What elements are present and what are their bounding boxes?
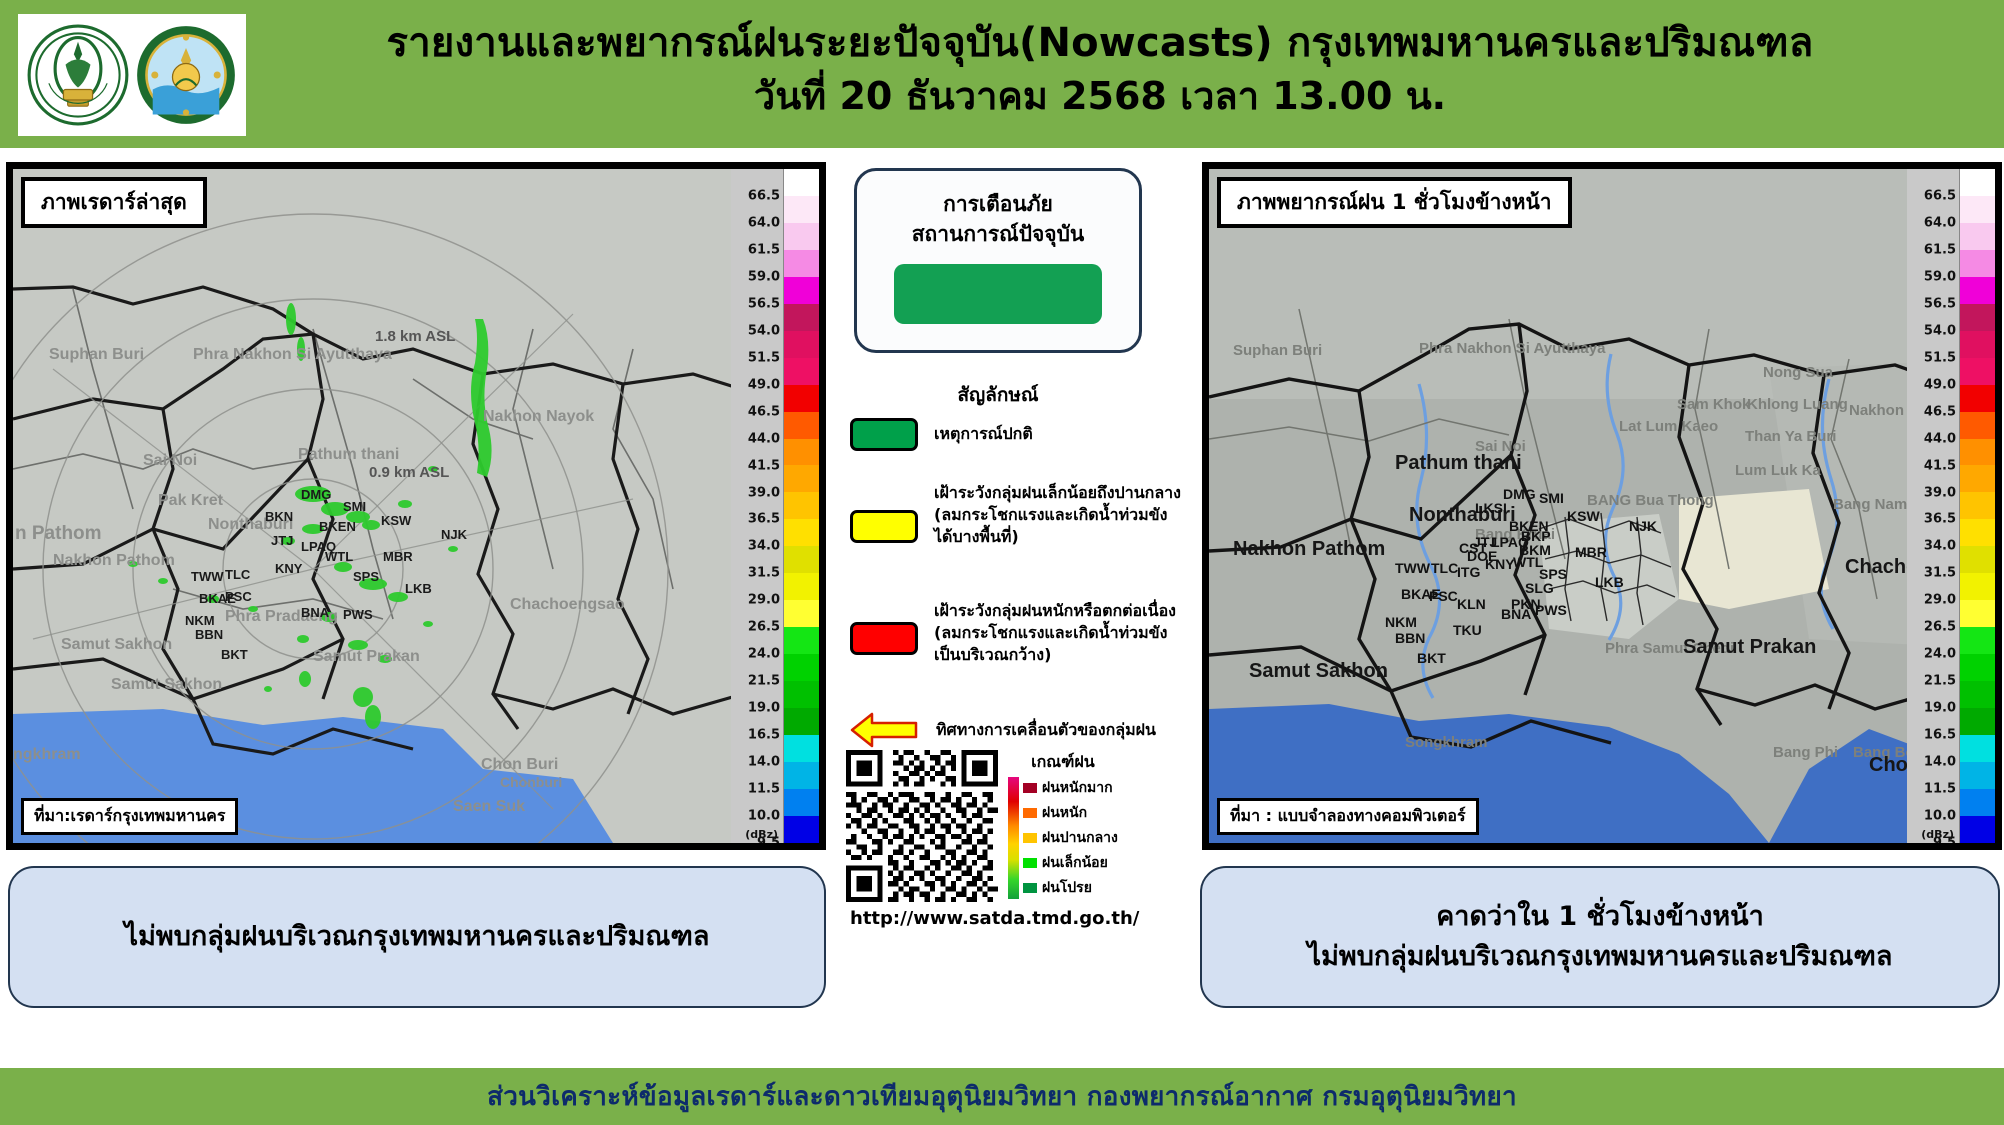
colorbar-tick-61.5: 61.5	[748, 242, 780, 257]
rain-intensity-gradient	[1008, 777, 1019, 899]
colorbar-swatch-3	[784, 250, 819, 277]
summary-right-line-1: คาดว่าใน 1 ชั่วโมงข้างหน้า	[1436, 897, 1764, 938]
svg-text:TLC: TLC	[1431, 560, 1458, 576]
colorbar-swatch-23	[1960, 789, 1995, 816]
svg-text:KNY: KNY	[275, 561, 303, 576]
colorbar-tick-31.5: 31.5	[748, 566, 780, 581]
colorbar-swatch-20	[1960, 708, 1995, 735]
legend-label-movement: ทิศทางการเคลื่อนตัวของกลุ่มฝน	[936, 719, 1156, 741]
svg-text:PWS: PWS	[343, 607, 373, 622]
svg-text:DMG: DMG	[1503, 486, 1536, 502]
rain-criteria-swatch-4	[1023, 883, 1037, 893]
svg-text:1.8 km ASL: 1.8 km ASL	[375, 328, 455, 345]
svg-text:Samut Sakhon: Samut Sakhon	[111, 676, 222, 693]
svg-text:BANG Bua Thong: BANG Bua Thong	[1587, 492, 1714, 509]
svg-text:BNA: BNA	[301, 605, 330, 620]
colorbar-swatch-6	[1960, 331, 1995, 358]
colorbar-tick-31.5: 31.5	[1924, 566, 1956, 581]
dbz-colorbar-swatches-left	[783, 169, 819, 843]
logo-container	[18, 14, 246, 136]
colorbar-tick-39.0: 39.0	[1924, 485, 1956, 500]
svg-text:NKM: NKM	[185, 613, 215, 628]
rain-criteria-swatch-2	[1023, 833, 1037, 843]
website-url[interactable]: http://www.satda.tmd.go.th/	[846, 908, 1194, 929]
colorbar-tick-10.0: 10.0	[748, 809, 780, 824]
colorbar-swatch-6	[784, 331, 819, 358]
title-line-1: รายงานและพยากรณ์ฝนระยะปัจจุบัน(Nowcasts)…	[250, 18, 1950, 68]
svg-text:LKB: LKB	[1595, 574, 1624, 590]
svg-text:NKM: NKM	[1385, 614, 1417, 630]
svg-text:BBN: BBN	[1395, 630, 1425, 646]
svg-text:BKT: BKT	[1417, 650, 1446, 666]
colorbar-tick-29.0: 29.0	[748, 593, 780, 608]
svg-text:Saen Suk: Saen Suk	[453, 798, 525, 815]
colorbar-tick-10.0: 10.0	[1924, 809, 1956, 824]
title-line-2: วันที่ 20 ธันวาคม 2568 เวลา 13.00 น.	[250, 72, 1950, 121]
colorbar-swatch-14	[784, 546, 819, 573]
svg-text:Than Ya Buri: Than Ya Buri	[1745, 428, 1836, 445]
colorbar-swatch-22	[1960, 762, 1995, 789]
colorbar-tick-24.0: 24.0	[1924, 647, 1956, 662]
colorbar-swatch-7	[1960, 358, 1995, 385]
colorbar-tick-54.0: 54.0	[1924, 323, 1956, 338]
svg-text:BKT: BKT	[221, 647, 248, 662]
colorbar-swatch-9	[1960, 412, 1995, 439]
rain-criteria-item-0: ฝนหนักมาก	[1023, 777, 1118, 799]
legend-column: การเตือนภัย สถานการณ์ปัจจุบัน สัญลักษณ์ …	[836, 162, 1194, 1062]
colorbar-swatch-16	[1960, 600, 1995, 627]
colorbar-tick-46.5: 46.5	[1924, 404, 1956, 419]
colorbar-swatch-21	[1960, 735, 1995, 762]
svg-text:Samut Sakhon: Samut Sakhon	[61, 636, 172, 653]
right-panel-tag: ภาพพยากรณ์ฝน 1 ชั่วโมงข้างหน้า	[1217, 177, 1572, 228]
svg-text:BKEN: BKEN	[319, 519, 356, 534]
svg-text:SMI: SMI	[1539, 490, 1564, 506]
colorbar-swatch-0	[784, 169, 819, 196]
svg-text:SMI: SMI	[343, 499, 366, 514]
svg-text:Chonburi: Chonburi	[500, 774, 562, 790]
svg-text:Bang Phi: Bang Phi	[1773, 744, 1838, 761]
colorbar-swatch-1	[1960, 196, 1995, 223]
rain-criteria-item-1: ฝนหนัก	[1023, 802, 1118, 824]
svg-text:LKSI: LKSI	[1475, 500, 1507, 516]
svg-text:SLG: SLG	[1525, 580, 1554, 596]
right-panel-source-tag: ที่มา : แบบจำลองทางคอมพิวเตอร์	[1217, 798, 1479, 835]
svg-text:Suphan Buri: Suphan Buri	[49, 346, 144, 363]
svg-text:BBN: BBN	[195, 627, 223, 642]
colorbar-swatch-23	[784, 789, 819, 816]
colorbar-swatch-8	[1960, 385, 1995, 412]
colorbar-tick-26.5: 26.5	[748, 620, 780, 635]
colorbar-swatch-12	[1960, 492, 1995, 519]
colorbar-swatch-7	[784, 358, 819, 385]
colorbar-tick-56.5: 56.5	[748, 296, 780, 311]
svg-text:TWW: TWW	[1395, 560, 1431, 576]
colorbar-swatch-15	[1960, 573, 1995, 600]
rain-criteria-item-3: ฝนเล็กน้อย	[1023, 852, 1118, 874]
colorbar-tick-49.0: 49.0	[1924, 377, 1956, 392]
svg-text:Samut Sakhon: Samut Sakhon	[1249, 660, 1388, 682]
colorbar-unit: (dBz)	[1921, 828, 1954, 841]
svg-text:Suphan Buri: Suphan Buri	[1233, 342, 1322, 359]
rain-criteria-label-0: ฝนหนักมาก	[1042, 777, 1113, 799]
colorbar-tick-34.0: 34.0	[748, 539, 780, 554]
rain-criteria-legend: เกณฑ์ฝน ฝนหนักมากฝนหนักฝนปานกลางฝนเล็กน้…	[1008, 750, 1118, 899]
colorbar-tick-19.0: 19.0	[748, 701, 780, 716]
colorbar-tick-21.5: 21.5	[748, 674, 780, 689]
forecast-1hour-panel[interactable]: Suphan Buri Phra Nakhon Si Ayutthaya Non…	[1202, 162, 2002, 850]
colorbar-tick-16.5: 16.5	[1924, 728, 1956, 743]
nowcast-report-page: รายงานและพยากรณ์ฝนระยะปัจจุบัน(Nowcasts)…	[0, 0, 2004, 1125]
colorbar-tick-14.0: 14.0	[1924, 755, 1956, 770]
rain-criteria-label-1: ฝนหนัก	[1042, 802, 1087, 824]
colorbar-tick-66.5: 66.5	[748, 188, 780, 203]
dbz-colorbar-labels-left: 66.564.061.559.056.554.051.549.046.544.0…	[731, 169, 783, 843]
rain-criteria-label-2: ฝนปานกลาง	[1042, 827, 1118, 849]
colorbar-swatch-3	[1960, 250, 1995, 277]
summary-right-box: คาดว่าใน 1 ชั่วโมงข้างหน้า ไม่พบกลุ่มฝนบ…	[1200, 866, 2000, 1008]
svg-text:BKAE: BKAE	[199, 591, 236, 606]
colorbar-swatch-1	[784, 196, 819, 223]
left-panel-tag: ภาพเรดาร์ล่าสุด	[21, 177, 207, 228]
qr-and-rain-criteria: เกณฑ์ฝน ฝนหนักมากฝนหนักฝนปานกลางฝนเล็กน้…	[846, 750, 1194, 929]
rain-criteria-swatch-1	[1023, 808, 1037, 818]
colorbar-swatch-22	[784, 762, 819, 789]
alert-status-card: การเตือนภัย สถานการณ์ปัจจุบัน	[854, 168, 1142, 353]
colorbar-tick-24.0: 24.0	[748, 647, 780, 662]
colorbar-swatch-20	[784, 708, 819, 735]
svg-text:LKB: LKB	[405, 581, 432, 596]
dbz-colorbar-left: 66.564.061.559.056.554.051.549.046.544.0…	[731, 169, 819, 843]
colorbar-tick-11.5: 11.5	[748, 782, 780, 797]
svg-text:ITG: ITG	[1457, 564, 1480, 580]
dbz-colorbar-swatches-right	[1959, 169, 1995, 843]
legend-item-watch-light: เฝ้าระวังกลุ่มฝนเล็กน้อยถึงปานกลาง(ลมกระ…	[850, 482, 1194, 548]
svg-text:PKN: PKN	[1511, 596, 1541, 612]
alert-status-indicator	[894, 264, 1102, 324]
svg-text:MBR: MBR	[383, 549, 413, 564]
svg-text:MBR: MBR	[1575, 544, 1607, 560]
forecast-map-canvas[interactable]: Suphan Buri Phra Nakhon Si Ayutthaya Non…	[1209, 169, 1995, 843]
colorbar-tick-61.5: 61.5	[1924, 242, 1956, 257]
colorbar-tick-66.5: 66.5	[1924, 188, 1956, 203]
thai-meteorological-department-emblem-icon	[134, 23, 238, 127]
colorbar-tick-34.0: 34.0	[1924, 539, 1956, 554]
svg-text:Samut Prakan: Samut Prakan	[1683, 636, 1816, 658]
content-area: Suphan Buri Phra Nakhon Si Ayutthaya Nak…	[0, 148, 2004, 1068]
colorbar-swatch-24	[1960, 816, 1995, 843]
left-panel-source-tag: ที่มา:เรดาร์กรุงเทพมหานคร	[21, 798, 238, 835]
legend-item-normal: เหตุการณ์ปกติ	[850, 418, 1194, 451]
radar-map-canvas[interactable]: Suphan Buri Phra Nakhon Si Ayutthaya Nak…	[13, 169, 819, 843]
colorbar-tick-64.0: 64.0	[1924, 215, 1956, 230]
svg-text:Lat Lum Kaeo: Lat Lum Kaeo	[1619, 418, 1718, 435]
colorbar-tick-19.0: 19.0	[1924, 701, 1956, 716]
legend-item-movement: ทิศทางการเคลื่อนตัวของกลุ่มฝน	[850, 710, 1194, 750]
colorbar-tick-21.5: 21.5	[1924, 674, 1956, 689]
colorbar-swatch-24	[784, 816, 819, 843]
colorbar-tick-11.5: 11.5	[1924, 782, 1956, 797]
svg-text:Nakhon Pathom: Nakhon Pathom	[53, 552, 175, 569]
royal-rainmaking-emblem-icon	[26, 23, 130, 127]
colorbar-tick-36.5: 36.5	[748, 512, 780, 527]
qr-code-icon[interactable]	[846, 750, 998, 902]
colorbar-swatch-13	[784, 519, 819, 546]
svg-text:Chachoengsao: Chachoengsao	[510, 596, 625, 613]
svg-text:Nong Sua: Nong Sua	[1763, 364, 1834, 381]
colorbar-tick-39.0: 39.0	[748, 485, 780, 500]
colorbar-swatch-10	[1960, 439, 1995, 466]
colorbar-swatch-21	[784, 735, 819, 762]
legend-label-watch-light: เฝ้าระวังกลุ่มฝนเล็กน้อยถึงปานกลาง(ลมกระ…	[934, 482, 1181, 548]
svg-text:Phra Nakhon Si Ayutthaya: Phra Nakhon Si Ayutthaya	[1419, 340, 1606, 357]
svg-text:KLN: KLN	[1457, 596, 1486, 612]
svg-text:BKP: BKP	[1521, 528, 1551, 544]
alert-title-line-2: สถานการณ์ปัจจุบัน	[912, 219, 1085, 249]
colorbar-swatch-9	[784, 412, 819, 439]
svg-text:TWW: TWW	[191, 569, 224, 584]
svg-text:Pathum thani: Pathum thani	[298, 446, 399, 463]
colorbar-tick-29.0: 29.0	[1924, 593, 1956, 608]
colorbar-swatch-8	[784, 385, 819, 412]
svg-text:TLC: TLC	[225, 567, 251, 582]
colorbar-tick-44.0: 44.0	[748, 431, 780, 446]
legend-item-watch-heavy: เฝ้าระวังกลุ่มฝนหนักหรือตกต่อเนื่อง(ลมกร…	[850, 600, 1194, 666]
colorbar-tick-59.0: 59.0	[748, 269, 780, 284]
colorbar-tick-51.5: 51.5	[1924, 350, 1956, 365]
page-header: รายงานและพยากรณ์ฝนระยะปัจจุบัน(Nowcasts)…	[0, 0, 2004, 150]
colorbar-swatch-19	[784, 681, 819, 708]
colorbar-tick-14.0: 14.0	[748, 755, 780, 770]
colorbar-tick-49.0: 49.0	[748, 377, 780, 392]
svg-text:Lum Luk Ka: Lum Luk Ka	[1735, 462, 1821, 479]
colorbar-swatch-13	[1960, 519, 1995, 546]
legend-heading: สัญลักษณ์	[854, 380, 1142, 410]
svg-text:ngkhram: ngkhram	[13, 746, 81, 763]
svg-text:NJK: NJK	[441, 527, 468, 542]
svg-text:Chon Buri: Chon Buri	[481, 756, 558, 773]
colorbar-swatch-5	[1960, 304, 1995, 331]
colorbar-swatch-12	[784, 492, 819, 519]
rain-criteria-title: เกณฑ์ฝน	[1008, 750, 1118, 775]
svg-text:SPS: SPS	[353, 569, 379, 584]
svg-text:NJK: NJK	[1629, 518, 1657, 534]
colorbar-unit: (dBz)	[745, 828, 778, 841]
summary-left-box: ไม่พบกลุ่มฝนบริเวณกรุงเทพมหานครและปริมณฑ…	[8, 866, 826, 1008]
rain-criteria-label-3: ฝนเล็กน้อย	[1042, 852, 1108, 874]
colorbar-swatch-4	[1960, 277, 1995, 304]
rain-criteria-items: ฝนหนักมากฝนหนักฝนปานกลางฝนเล็กน้อยฝนโปรย	[1023, 777, 1118, 899]
legend-chip-green	[850, 418, 918, 451]
page-footer: ส่วนวิเคราะห์ข้อมูลเรดาร์และดาวเทียมอุตุ…	[0, 1068, 2004, 1125]
svg-text:WTL: WTL	[325, 549, 353, 564]
rain-criteria-label-4: ฝนโปรย	[1042, 877, 1092, 899]
colorbar-swatch-5	[784, 304, 819, 331]
dbz-colorbar-right: 66.564.061.559.056.554.051.549.046.544.0…	[1907, 169, 1995, 843]
colorbar-swatch-10	[784, 439, 819, 466]
svg-text:Phra Nakhon Si Ayutthaya: Phra Nakhon Si Ayutthaya	[193, 346, 392, 363]
colorbar-swatch-15	[784, 573, 819, 600]
svg-text:BKN: BKN	[265, 509, 293, 524]
colorbar-tick-59.0: 59.0	[1924, 269, 1956, 284]
svg-text:Pak Kret: Pak Kret	[158, 492, 224, 509]
legend-label-normal: เหตุการณ์ปกติ	[934, 423, 1033, 445]
colorbar-tick-46.5: 46.5	[748, 404, 780, 419]
colorbar-tick-41.5: 41.5	[1924, 458, 1956, 473]
summary-right-line-2: ไม่พบกลุ่มฝนบริเวณกรุงเทพมหานครและปริมณฑ…	[1308, 937, 1893, 978]
colorbar-tick-54.0: 54.0	[748, 323, 780, 338]
colorbar-swatch-18	[1960, 654, 1995, 681]
colorbar-tick-26.5: 26.5	[1924, 620, 1956, 635]
colorbar-swatch-14	[1960, 546, 1995, 573]
colorbar-swatch-11	[1960, 465, 1995, 492]
svg-text:BKM: BKM	[1519, 542, 1551, 558]
rain-criteria-item-4: ฝนโปรย	[1023, 877, 1118, 899]
svg-text:0.9 km ASL: 0.9 km ASL	[369, 464, 449, 481]
svg-text:Sam Khok: Sam Khok	[1677, 396, 1751, 413]
colorbar-swatch-11	[784, 465, 819, 492]
svg-text:n Pathom: n Pathom	[15, 523, 102, 544]
colorbar-tick-56.5: 56.5	[1924, 296, 1956, 311]
svg-text:Nakhon Nayok: Nakhon Nayok	[483, 408, 594, 425]
legend-label-watch-heavy: เฝ้าระวังกลุ่มฝนหนักหรือตกต่อเนื่อง(ลมกร…	[934, 600, 1176, 666]
svg-text:Songkhram: Songkhram	[1405, 734, 1488, 751]
svg-text:Sai Noi: Sai Noi	[143, 452, 197, 469]
svg-text:Khlong Luang: Khlong Luang	[1747, 396, 1848, 413]
colorbar-swatch-2	[784, 223, 819, 250]
colorbar-swatch-17	[784, 627, 819, 654]
svg-text:KSW: KSW	[1567, 508, 1600, 524]
colorbar-swatch-2	[1960, 223, 1995, 250]
svg-text:CST: CST	[1459, 540, 1487, 556]
rain-criteria-swatch-3	[1023, 858, 1037, 868]
colorbar-swatch-18	[784, 654, 819, 681]
dbz-colorbar-labels-right: 66.564.061.559.056.554.051.549.046.544.0…	[1907, 169, 1959, 843]
legend-chip-red	[850, 622, 918, 655]
radar-latest-panel[interactable]: Suphan Buri Phra Nakhon Si Ayutthaya Nak…	[6, 162, 826, 850]
footer-text: ส่วนวิเคราะห์ข้อมูลเรดาร์และดาวเทียมอุตุ…	[487, 1076, 1517, 1117]
colorbar-tick-36.5: 36.5	[1924, 512, 1956, 527]
page-title: รายงานและพยากรณ์ฝนระยะปัจจุบัน(Nowcasts)…	[250, 18, 1950, 121]
svg-text:Pathum thani: Pathum thani	[1395, 452, 1522, 474]
colorbar-swatch-4	[784, 277, 819, 304]
colorbar-swatch-19	[1960, 681, 1995, 708]
left-arrow-icon	[850, 710, 920, 750]
svg-text:KSW: KSW	[381, 513, 412, 528]
colorbar-tick-16.5: 16.5	[748, 728, 780, 743]
legend-chip-yellow	[850, 510, 918, 543]
colorbar-tick-51.5: 51.5	[748, 350, 780, 365]
svg-text:Samut Prakan: Samut Prakan	[313, 648, 420, 665]
rain-criteria-swatch-0	[1023, 783, 1037, 793]
colorbar-swatch-16	[784, 600, 819, 627]
colorbar-swatch-17	[1960, 627, 1995, 654]
colorbar-tick-64.0: 64.0	[748, 215, 780, 230]
svg-text:JTJ: JTJ	[271, 533, 293, 548]
svg-text:Nakhon Pathom: Nakhon Pathom	[1233, 538, 1385, 560]
alert-title-line-1: การเตือนภัย	[943, 189, 1053, 219]
svg-text:BKAE: BKAE	[1401, 586, 1441, 602]
svg-text:DMG: DMG	[301, 487, 331, 502]
rain-criteria-item-2: ฝนปานกลาง	[1023, 827, 1118, 849]
colorbar-swatch-0	[1960, 169, 1995, 196]
colorbar-tick-41.5: 41.5	[748, 458, 780, 473]
colorbar-tick-44.0: 44.0	[1924, 431, 1956, 446]
summary-left-line-1: ไม่พบกลุ่มฝนบริเวณกรุงเทพมหานครและปริมณฑ…	[125, 917, 710, 958]
svg-text:TKU: TKU	[1453, 622, 1482, 638]
